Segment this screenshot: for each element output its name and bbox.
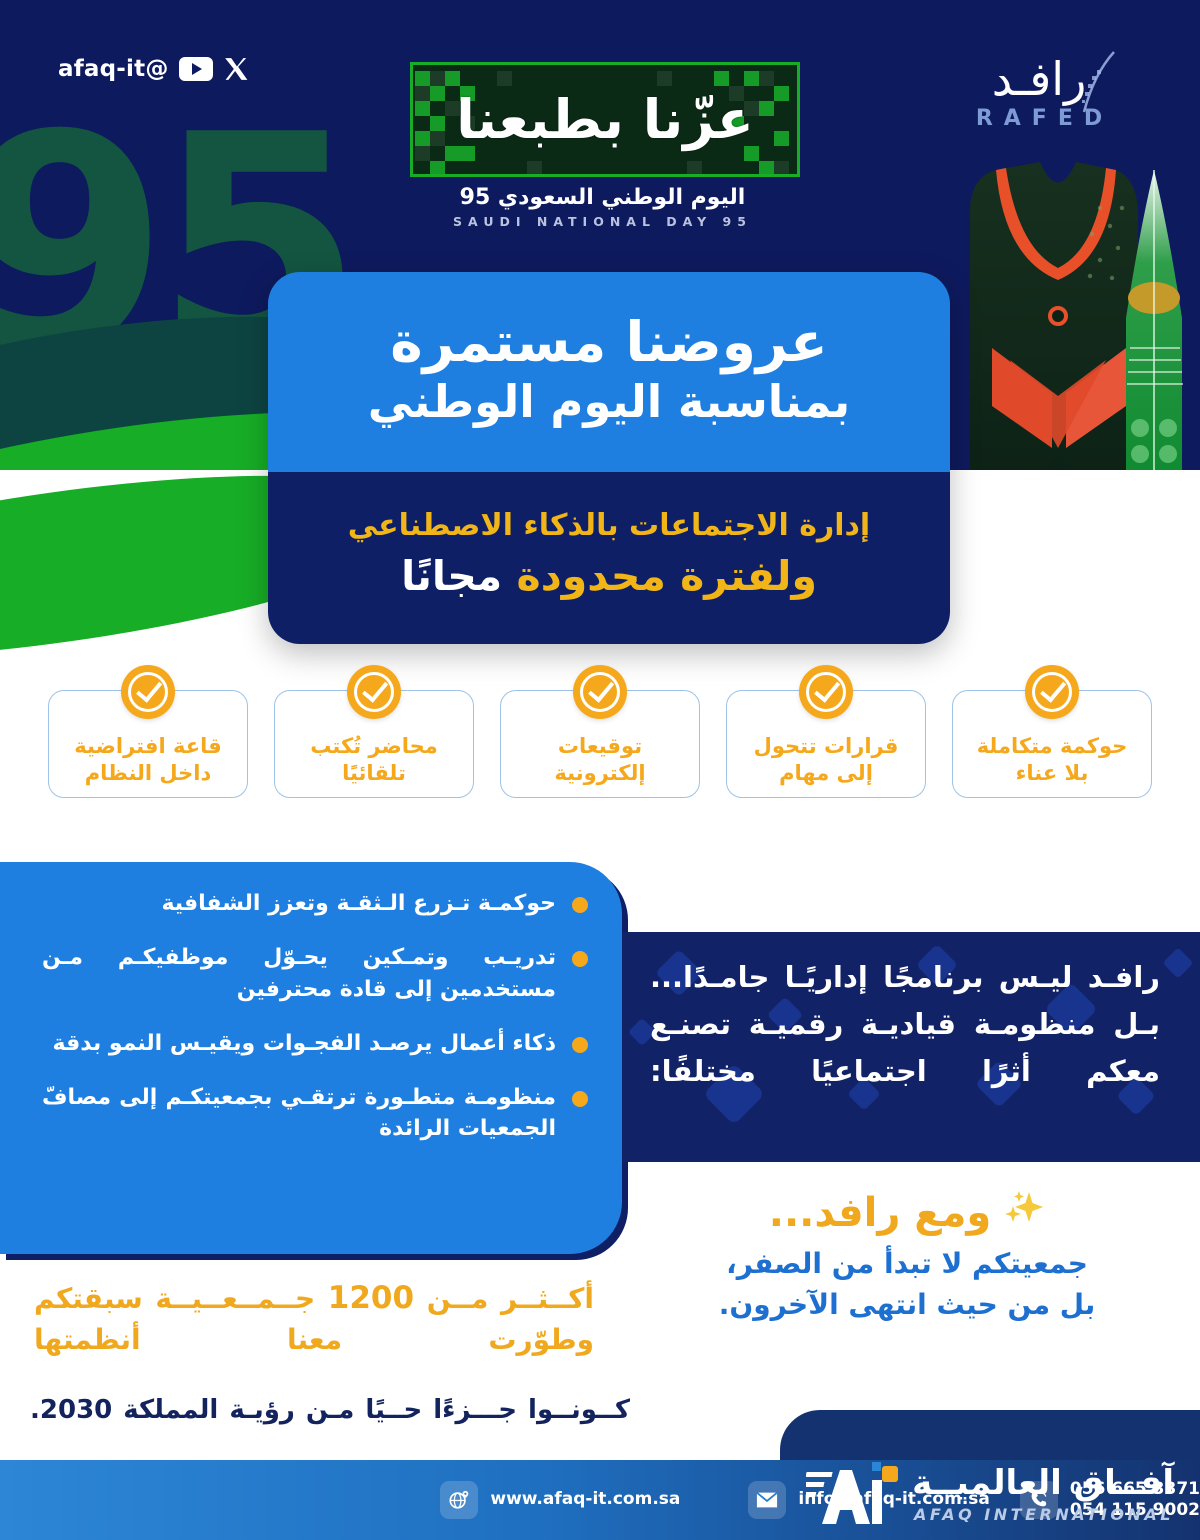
kingdom-tower-artwork [940,148,1190,470]
hero-offer-line: ولفترة محدودة مجانًا [401,551,817,602]
national-day-slogan-box: عزّنا بطبعنا [410,62,800,177]
feature-badge[interactable]: قرارات تتحولإلى مهام [726,690,926,798]
footer-contact-bar: 056 665 3371 054 115 9002 info@afaq-it.c… [0,1460,1200,1540]
afaq-name-en: AFAQ INTERNATIONAL [912,1505,1174,1524]
x-twitter-icon[interactable] [223,56,249,82]
benefit-item: منظومـة متطـورة ترتقـي بجمعيتكـم إلى مصا… [42,1082,588,1146]
with-rafed-title-row: ومع رافد... [634,1190,1180,1236]
benefit-item: ذكاء أعمال يرصـد الفجـوات ويقيـس النمو ب… [42,1028,588,1060]
afaq-name-ar: آفــاق العالميــة [912,1466,1174,1500]
benefit-text: منظومـة متطـورة ترتقـي بجمعيتكـم إلى مصا… [42,1082,556,1146]
bullet-dot-icon [572,897,588,913]
bullet-dot-icon [572,1037,588,1053]
national-day-slogan: عزّنا بطبعنا [413,65,797,174]
feature-badge-label: حوكمة متكاملةبلا عناء [971,733,1134,787]
benefit-text: حوكمـة تـزرع الـثقـة وتعزز الشفافية [42,888,556,920]
rafed-swoosh-icon [1064,50,1124,120]
check-circle-icon [573,665,627,719]
benefit-item: تدريـب وتمـكين يحـوّل موظفيكـم مـن مستخد… [42,942,588,1006]
benefits-panel: حوكمـة تـزرع الـثقـة وتعزز الشفافية تدري… [0,862,622,1254]
email-icon [748,1481,786,1519]
with-rafed-line2: بل من حيث انتهى الآخرون. [634,1285,1180,1326]
feature-badge-label: توقيعاتإلكترونية [548,733,651,787]
about-rafed-panel: رافـد ليـس برنامجًا إداريًـا جامـدًا... … [622,932,1200,1162]
hero-headline-line2: بمناسبة اليوم الوطني [368,376,850,428]
check-circle-icon [1025,665,1079,719]
check-circle-icon [121,665,175,719]
benefit-text: تدريـب وتمـكين يحـوّل موظفيكـم مـن مستخد… [42,942,556,1006]
youtube-icon[interactable] [179,57,213,81]
check-circle-icon [799,665,853,719]
hero-offer-free: مجانًا [401,552,502,600]
feature-badge-label: قاعة افتراضيةداخل النظام [68,733,227,787]
feature-badge-label: محاضر تُكتبتلقائيًا [304,733,444,787]
benefit-item: حوكمـة تـزرع الـثقـة وتعزز الشفافية [42,888,588,920]
globe-pin-icon [440,1481,478,1519]
hero-offer-card: عروضنا مستمرة بمناسبة اليوم الوطني إدارة… [268,272,950,644]
members-stat: أكــثــر مــن 1200 جــمــعــيــة سبقتكم … [34,1276,594,1360]
hero-card-bottom: إدارة الاجتماعات بالذكاء الاصطناعي ولفتر… [268,472,950,644]
poster-root: 95 [0,0,1200,1540]
saudi-national-day-logo: عزّنا بطبعنا اليوم الوطني السعودي 95 SAU… [405,62,800,229]
bullet-dot-icon [572,1091,588,1107]
hero-offer-limited: ولفترة محدودة [516,552,816,600]
hero-headline-line1: عروضنا مستمرة [390,312,827,374]
with-rafed-subtitle: جمعيتكم لا تبدأ من الصفر، بل من حيث انته… [634,1244,1180,1325]
social-handle-text: @afaq-it [58,56,169,82]
benefit-text: ذكاء أعمال يرصـد الفجـوات ويقيـس النمو ب… [42,1028,556,1060]
feature-badge[interactable]: قاعة افتراضيةداخل النظام [48,690,248,798]
national-day-subtitle-en: SAUDI NATIONAL DAY 95 [405,214,800,229]
bullet-dot-icon [572,951,588,967]
feature-badge-label: قرارات تتحولإلى مهام [748,733,905,787]
social-handle[interactable]: @afaq-it [58,56,249,82]
contact-website[interactable]: www.afaq-it.com.sa [440,1481,680,1519]
members-stat-number: 1200 [328,1280,414,1316]
with-rafed-block: ومع رافد... جمعيتكم لا تبدأ من الصفر، بل… [620,1190,1180,1325]
national-day-subtitle-ar: اليوم الوطني السعودي 95 [405,185,800,210]
sparkles-icon [1003,1190,1045,1236]
feature-badge[interactable]: حوكمة متكاملةبلا عناء [952,690,1152,798]
about-rafed-text: رافـد ليـس برنامجًا إداريًـا جامـدًا... … [622,932,1200,1105]
vision-2030-line: كــونــوا جـــزءًا حــيًا مـن رؤيـة المم… [30,1392,630,1428]
with-rafed-line1: جمعيتكم لا تبدأ من الصفر، [634,1244,1180,1285]
with-rafed-title: ومع رافد... [769,1190,992,1236]
hero-card-top: عروضنا مستمرة بمناسبة اليوم الوطني [268,272,950,472]
members-stat-prefix: أكــثــر مــن [427,1282,594,1315]
feature-badge[interactable]: محاضر تُكتبتلقائيًا [274,690,474,798]
feature-badges-row: قاعة افتراضيةداخل النظام محاضر تُكتبتلقا… [48,690,1152,798]
afaq-monogram-icon [806,1456,898,1534]
contact-website-text: www.afaq-it.com.sa [490,1489,680,1510]
hero-subtitle: إدارة الاجتماعات بالذكاء الاصطناعي [348,506,870,545]
afaq-company-logo: آفــاق العالميــة AFAQ INTERNATIONAL [806,1456,1174,1534]
afaq-logo-words: آفــاق العالميــة AFAQ INTERNATIONAL [912,1466,1174,1524]
feature-badge[interactable]: توقيعاتإلكترونية [500,690,700,798]
check-circle-icon [347,665,401,719]
rafed-logo: رافـد RAFED [924,56,1154,131]
